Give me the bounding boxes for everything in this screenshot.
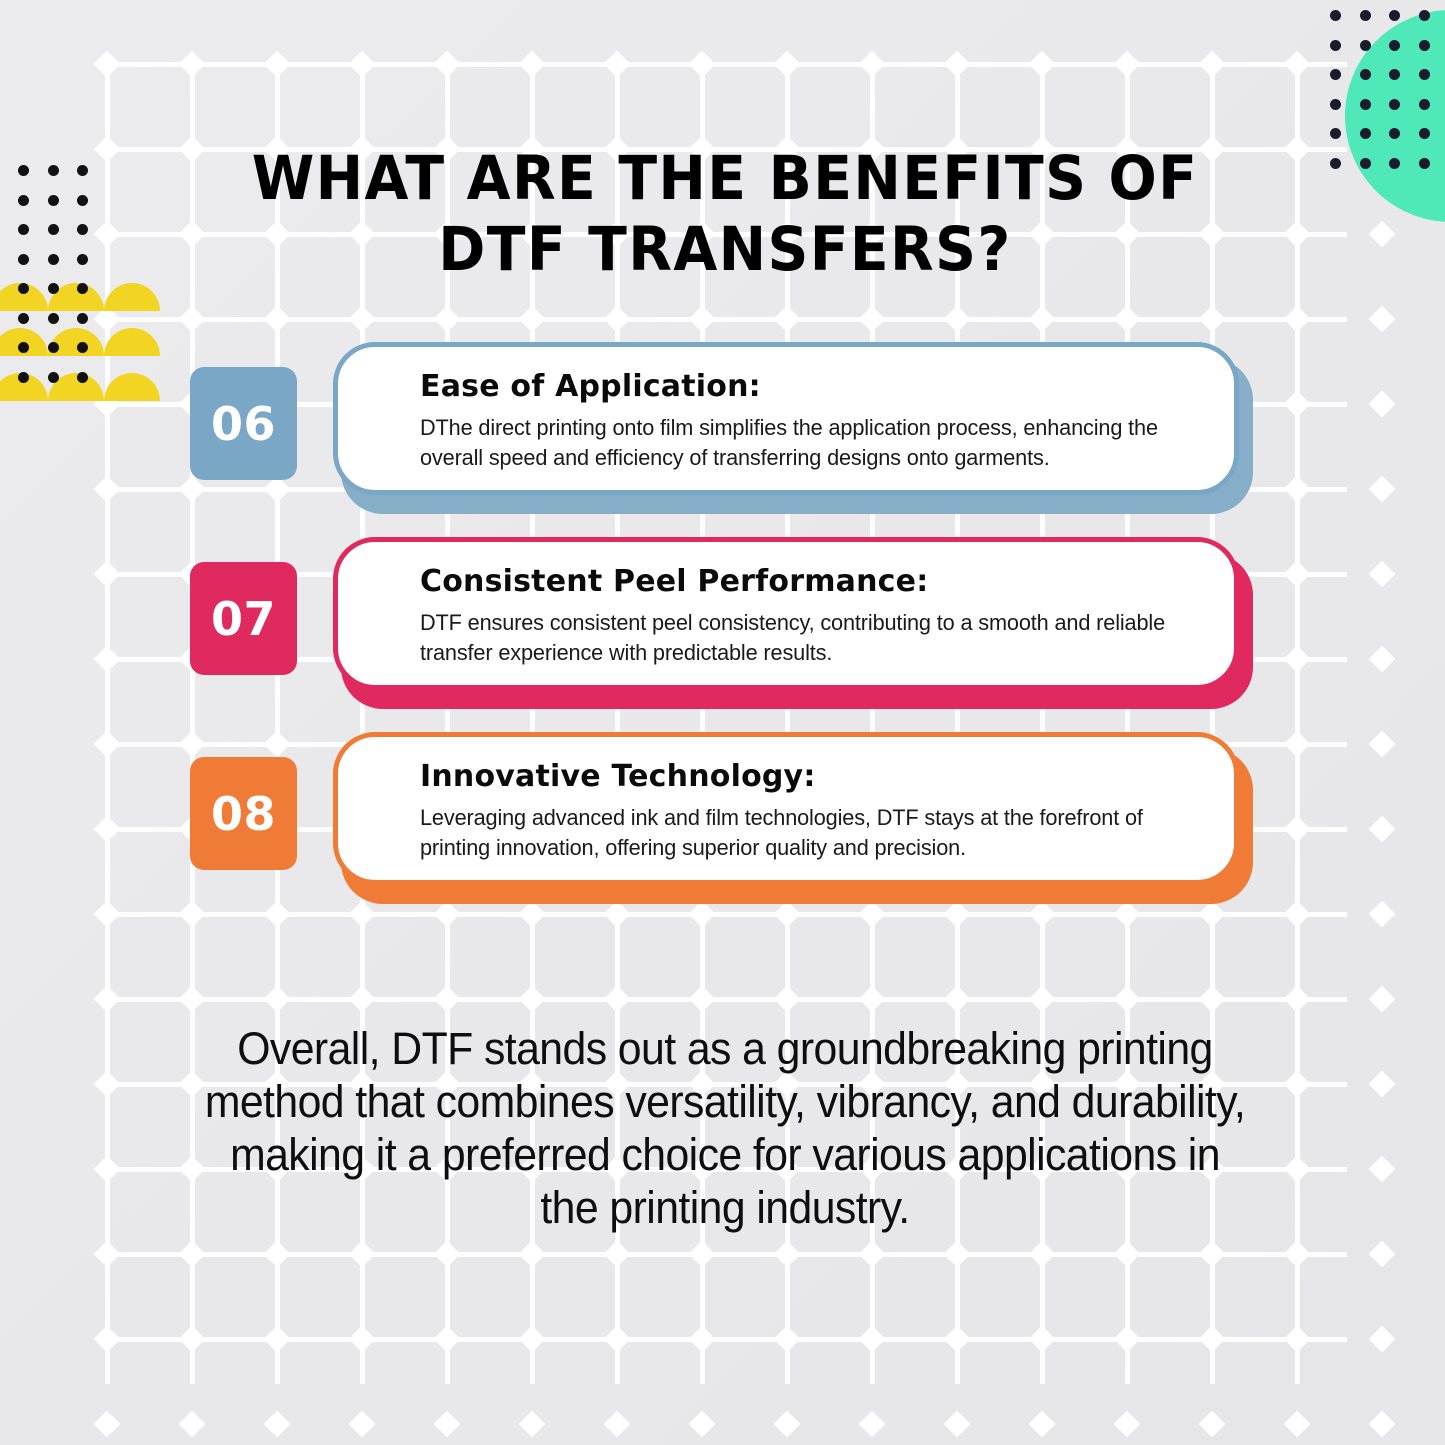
benefit-card-07[interactable]: 07 Consistent Peel Performance: DTF ensu…: [0, 537, 1445, 732]
badge-number-label: 08: [211, 787, 276, 841]
badge-number-07: 07: [190, 562, 297, 675]
card-body-08[interactable]: Innovative Technology: Leveraging advanc…: [333, 732, 1239, 885]
card-description-06: DThe direct printing onto film simplifie…: [420, 413, 1173, 473]
card-title-07: Consistent Peel Performance:: [420, 564, 1200, 599]
card-body-06[interactable]: Ease of Application: DThe direct printin…: [333, 342, 1239, 495]
card-description-07: DTF ensures consistent peel consistency,…: [420, 608, 1173, 668]
infographic-poster: WHAT ARE THE BENEFITS OF DTF TRANSFERS? …: [0, 0, 1445, 1445]
page-title: WHAT ARE THE BENEFITS OF DTF TRANSFERS?: [195, 143, 1255, 286]
card-container-07: Consistent Peel Performance: DTF ensures…: [333, 537, 1253, 709]
card-title-08: Innovative Technology:: [420, 759, 1200, 794]
badge-number-label: 06: [211, 397, 276, 451]
summary-paragraph: Overall, DTF stands out as a groundbreak…: [203, 1022, 1248, 1234]
card-description-08: Leveraging advanced ink and film technol…: [420, 803, 1173, 863]
badge-number-08: 08: [190, 757, 297, 870]
teal-circle-decoration: [1345, 10, 1445, 222]
benefit-card-06[interactable]: 06 Ease of Application: DThe direct prin…: [0, 342, 1445, 537]
benefits-card-list: 06 Ease of Application: DThe direct prin…: [0, 342, 1445, 927]
card-title-06: Ease of Application:: [420, 369, 1200, 404]
benefit-card-08[interactable]: 08 Innovative Technology: Leveraging adv…: [0, 732, 1445, 927]
card-body-07[interactable]: Consistent Peel Performance: DTF ensures…: [333, 537, 1239, 690]
badge-number-label: 07: [211, 592, 276, 646]
badge-number-06: 06: [190, 367, 297, 480]
card-container-08: Innovative Technology: Leveraging advanc…: [333, 732, 1253, 904]
card-container-06: Ease of Application: DThe direct printin…: [333, 342, 1253, 514]
